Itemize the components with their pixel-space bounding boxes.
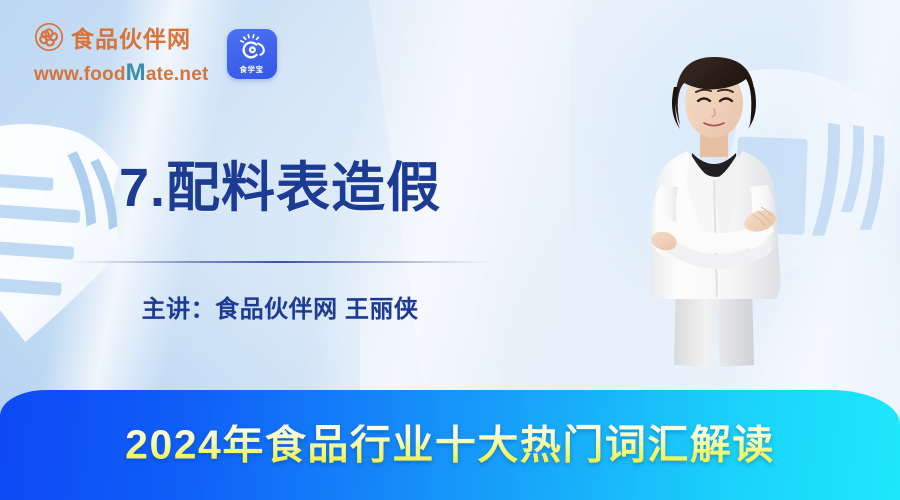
foodmate-brand-logo[interactable]: 食品伙伴网 www.foodMate.net	[34, 22, 209, 85]
brand-url-suffix: ate.net	[146, 64, 209, 85]
presenter-photo	[614, 35, 814, 405]
eye-sun-icon	[236, 34, 268, 65]
ribbon-decor-right	[708, 48, 900, 328]
background-wash-right	[570, 0, 900, 400]
bottom-banner: 2024年食品行业十大热门词汇解读	[0, 390, 900, 500]
presenter-subtitle: 主讲：食品伙伴网 王丽侠	[0, 289, 560, 324]
brand-url-text: www.foodMate.net	[34, 61, 209, 85]
title-divider	[70, 261, 490, 263]
banner-title: 2024年食品行业十大热门词汇解读	[0, 425, 900, 466]
slide-canvas: 食品伙伴网 www.foodMate.net	[0, 0, 900, 500]
flower-emblem-icon	[34, 22, 64, 57]
app-icon-label: 食学宝	[240, 66, 264, 74]
page-title: 7.配料表造假	[0, 160, 560, 217]
shixuebao-app-icon[interactable]: 食学宝	[227, 29, 277, 79]
brand-url-accent: M	[126, 59, 146, 86]
header-logo-group: 食品伙伴网 www.foodMate.net	[34, 22, 277, 85]
brand-url-prefix: www.food	[34, 64, 126, 85]
title-block: 7.配料表造假 主讲：食品伙伴网 王丽侠	[0, 160, 560, 324]
brand-name-text: 食品伙伴网	[71, 28, 191, 51]
